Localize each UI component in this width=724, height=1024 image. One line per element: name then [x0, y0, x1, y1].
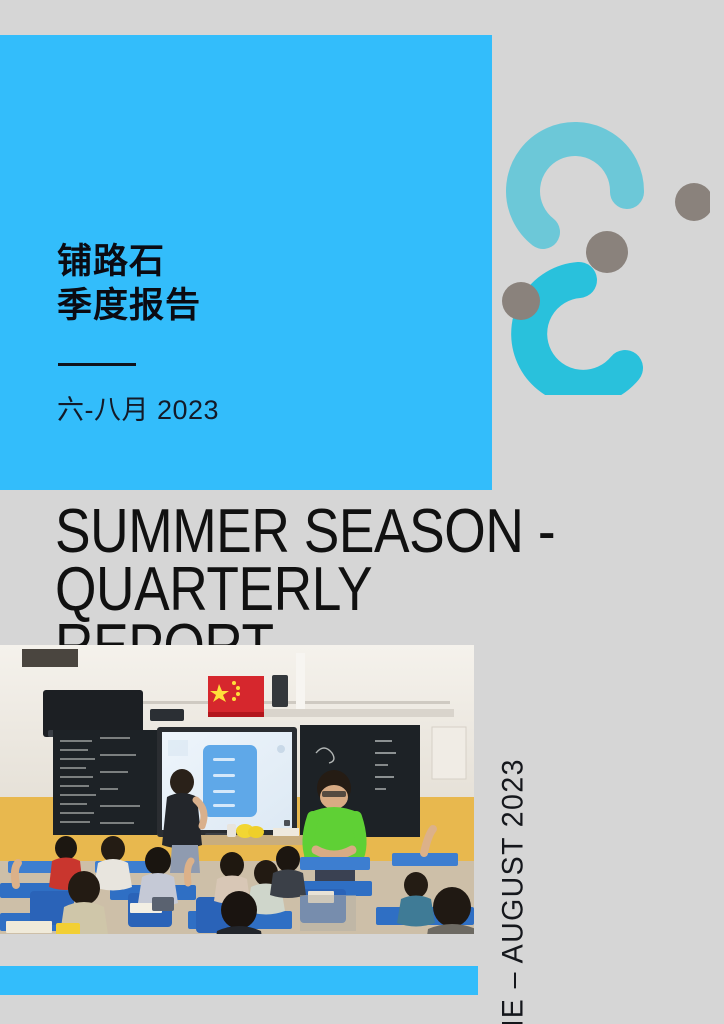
hero-block: 铺路石 季度报告 六-八月 2023: [0, 35, 492, 490]
logo-dot: [502, 282, 540, 320]
report-cover-page: 铺路石 季度报告 六-八月 2023 SUMMER SEASON - QUART…: [0, 0, 724, 1024]
hero-subtitle: 六-八月 2023: [57, 394, 219, 426]
title-divider: [58, 363, 136, 366]
vertical-date-text: JUNE – AUGUST 2023: [496, 758, 530, 1024]
vertical-date-label: JUNE – AUGUST 2023: [490, 645, 536, 935]
logo-dot: [675, 183, 710, 221]
cover-photo: [0, 645, 474, 934]
logo-dot: [586, 231, 628, 273]
page-title: 铺路石 季度报告: [57, 240, 201, 328]
logo-icon: [495, 120, 710, 395]
bottom-accent-bar: [0, 966, 478, 995]
